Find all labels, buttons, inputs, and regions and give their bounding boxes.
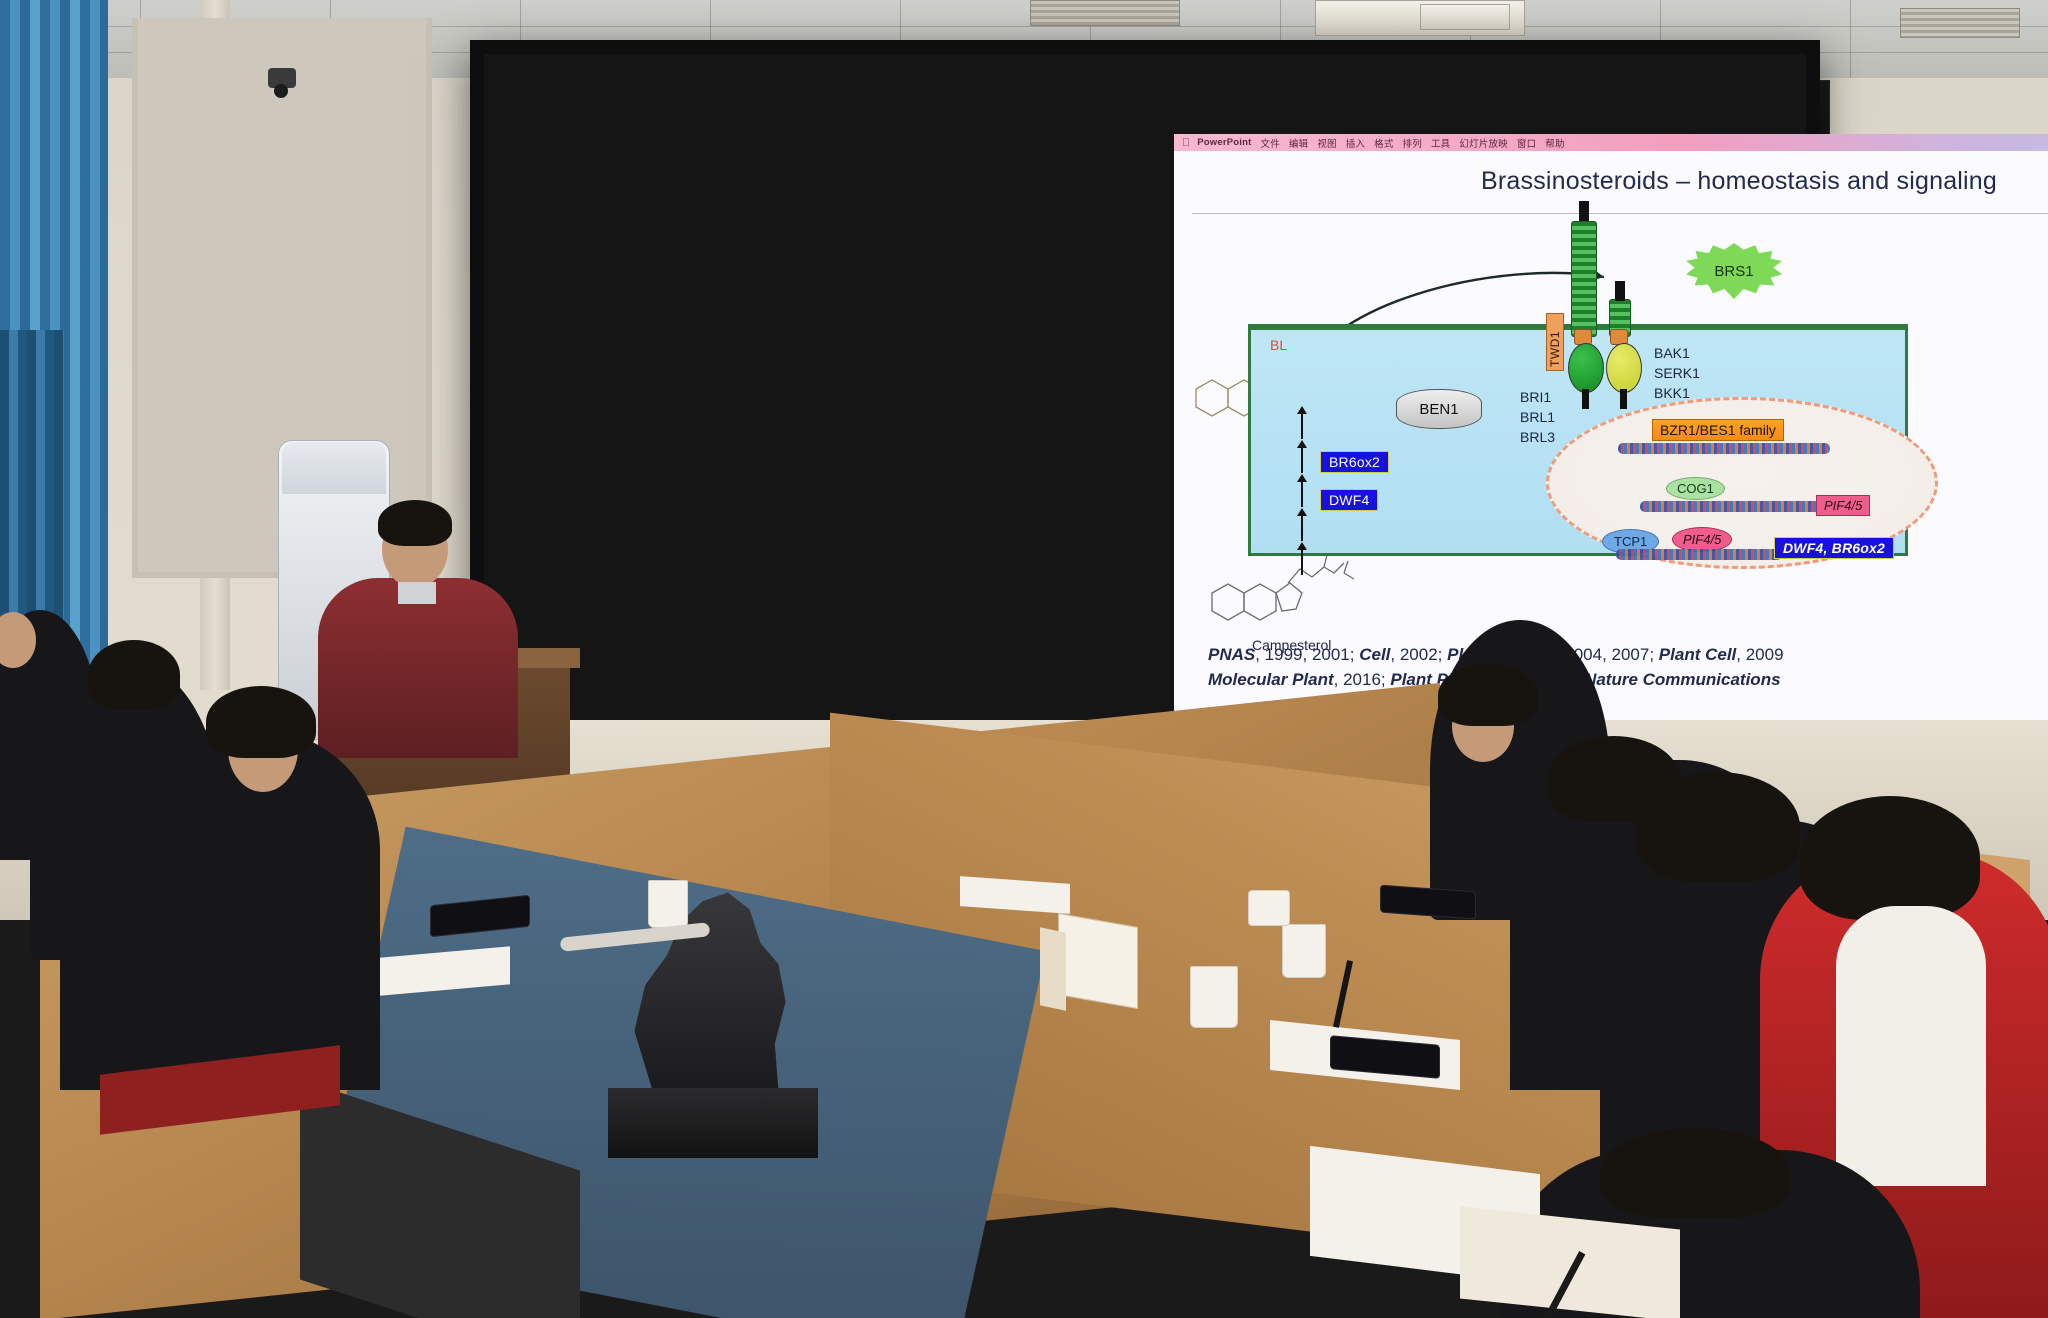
synthesis-arrow-2 (1301, 447, 1303, 473)
menu-item-arrange[interactable]: 排列 (1403, 136, 1422, 150)
label-bzr1-bes1-family: BZR1/BES1 family (1652, 419, 1784, 441)
ligand-stalk-top (1579, 201, 1589, 223)
bull-sculpture-base (608, 1088, 818, 1158)
water-cooler-top (282, 442, 386, 494)
label-bl: BL (1270, 337, 1287, 353)
macos-menubar[interactable]:  PowerPoint 文件 编辑 视图 插入 格式 排列 工具 幻灯片放映 … (1174, 134, 2048, 151)
label-brs1: BRS1 (1686, 243, 1782, 299)
references-line-1: PNAS, 1999, 2001; Cell, 2002; Plant Jour… (1208, 643, 2048, 668)
presenter-collar (398, 582, 436, 604)
menu-item-slideshow[interactable]: 幻灯片放映 (1459, 136, 1508, 150)
paper-cup-2[interactable] (1282, 924, 1326, 978)
label-serk1: SERK1 (1654, 365, 1700, 381)
label-target-genes: DWF4, BR6ox2 (1774, 537, 1894, 559)
ref-cell-years: , 2002; (1390, 645, 1447, 664)
attendee-left-3-hair (206, 686, 316, 758)
ref-plant-cell-years: , 2009 (1736, 645, 1783, 664)
attendee-right-4-jacket (1836, 906, 1986, 1186)
menu-item-insert[interactable]: 插入 (1346, 136, 1365, 150)
ref-pnas: PNAS (1208, 645, 1255, 664)
attendee-right-3-hair (1636, 772, 1800, 882)
ref-nature-communications: Nature Communications (1584, 670, 1780, 689)
label-cog1: COG1 (1666, 477, 1725, 500)
presentation-display:  PowerPoint 文件 编辑 视图 插入 格式 排列 工具 幻灯片放映 … (470, 40, 1820, 745)
menu-item-window[interactable]: 窗口 (1517, 136, 1536, 150)
title-divider (1192, 213, 2048, 214)
bri1-tail (1582, 389, 1589, 409)
references-line-2: Molecular Plant, 2016; Plant Physiology,… (1208, 668, 2048, 693)
label-brl1: BRL1 (1520, 409, 1555, 425)
label-twd1: TWD1 (1546, 313, 1564, 371)
ceiling-vent (1030, 0, 1180, 26)
powerpoint-window:  PowerPoint 文件 编辑 视图 插入 格式 排列 工具 幻灯片放映 … (1174, 134, 2048, 759)
slide-canvas: Brassinosteroids – homeostasis and signa… (1174, 151, 2048, 759)
attendee-left-3 (60, 730, 380, 1090)
attendee-left-2-hair (88, 640, 180, 710)
menu-item-view[interactable]: 视图 (1317, 136, 1336, 150)
apple-logo-icon[interactable]:  (1182, 137, 1190, 149)
ref-plant-cell: Plant Cell (1659, 645, 1736, 664)
menu-item-format[interactable]: 格式 (1374, 136, 1393, 150)
menu-item-help[interactable]: 帮助 (1545, 136, 1564, 150)
label-bri1: BRI1 (1520, 389, 1551, 405)
bri1-kinase-domain (1568, 343, 1604, 393)
bak1-kinase-domain (1606, 343, 1642, 393)
label-bak1: BAK1 (1654, 345, 1690, 361)
synthesis-arrow-5 (1301, 549, 1303, 575)
ref-molecular-plant-years: , 2016; (1334, 670, 1391, 689)
presenter-body (318, 578, 518, 758)
ref-pnas-years: , 1999, 2001; (1255, 645, 1359, 664)
menu-app-name[interactable]: PowerPoint (1197, 137, 1251, 148)
camera-lens-icon (274, 84, 288, 98)
bri1-lrr-coil (1571, 221, 1597, 337)
bak1-tail (1620, 389, 1627, 409)
paper-cup-1[interactable] (648, 880, 688, 928)
ref-cell: Cell (1359, 645, 1390, 664)
dna-strand-1 (1618, 443, 1830, 454)
attendee-right-5-hair (1600, 1128, 1790, 1218)
attendee-right-4-hair (1800, 796, 1980, 920)
menu-item-file[interactable]: 文件 (1261, 136, 1280, 150)
menu-item-tools[interactable]: 工具 (1431, 136, 1450, 150)
name-tent-card-2 (1040, 927, 1066, 1011)
presenter-hair (378, 500, 452, 546)
label-br6ox2: BR6ox2 (1320, 451, 1389, 473)
label-ben1: BEN1 (1396, 389, 1482, 429)
dna-strand-2 (1640, 501, 1826, 512)
bak1-stalk-top (1615, 281, 1625, 301)
ceiling-light-panel-2 (1420, 4, 1510, 30)
dna-strand-3 (1616, 549, 1782, 560)
ceiling-vent-2 (1900, 8, 2020, 38)
slide-title: Brassinosteroids – homeostasis and signa… (1174, 167, 2048, 196)
name-tent-card (1058, 913, 1138, 1009)
synthesis-arrow-1 (1301, 413, 1303, 439)
tea-cup[interactable] (1248, 890, 1290, 926)
label-dwf4: DWF4 (1320, 489, 1378, 511)
label-bkk1: BKK1 (1654, 385, 1690, 401)
meeting-room-scene:  PowerPoint 文件 编辑 视图 插入 格式 排列 工具 幻灯片放映 … (0, 0, 2048, 1318)
label-brl3: BRL3 (1520, 429, 1555, 445)
menu-item-edit[interactable]: 编辑 (1289, 136, 1308, 150)
synthesis-arrow-4 (1301, 515, 1303, 541)
synthesis-arrow-3 (1301, 481, 1303, 507)
references-block: PNAS, 1999, 2001; Cell, 2002; Plant Jour… (1208, 643, 2048, 692)
attendee-right-1-hair (1438, 664, 1538, 726)
label-pif45-right: PIF4/5 (1816, 495, 1870, 516)
ref-molecular-plant: Molecular Plant (1208, 670, 1334, 689)
paper-cup-3[interactable] (1190, 966, 1238, 1028)
